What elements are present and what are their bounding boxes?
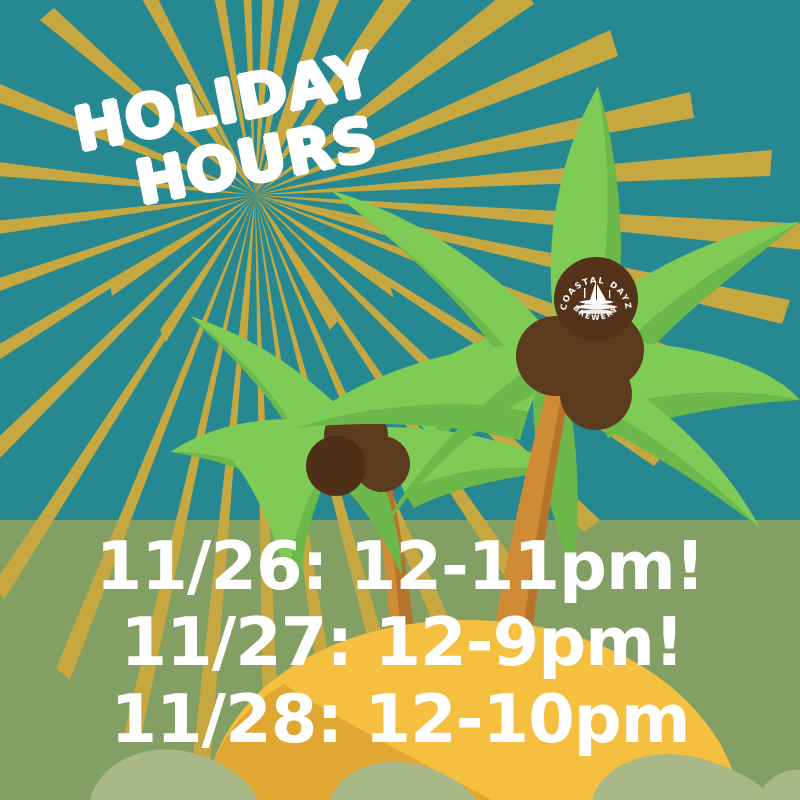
bush-far-right bbox=[756, 770, 800, 800]
holiday-hours-poster: HOLIDAY HOURS bbox=[0, 0, 800, 800]
sand-and-bushes bbox=[0, 0, 800, 800]
